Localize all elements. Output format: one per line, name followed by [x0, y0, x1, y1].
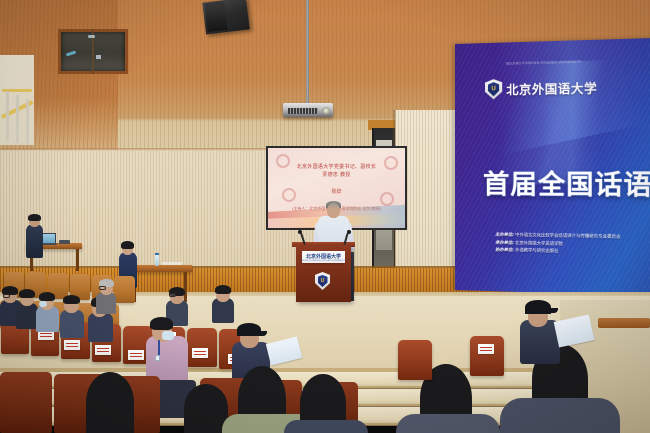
banner-university-logo: U 北京外国语大学 [485, 77, 597, 100]
crest-letter: U [488, 82, 499, 96]
operator-rear-body [26, 224, 43, 258]
speaker-head [327, 203, 340, 218]
microphone-head [347, 230, 351, 234]
projector-vent [288, 108, 318, 114]
table-leg [184, 272, 187, 302]
attendee-cap-brim [255, 331, 267, 336]
attendee-cap-brim [545, 308, 558, 313]
banner-institution-name-cn: 北京外国语大学 [506, 79, 597, 98]
audience-seat[interactable] [398, 340, 432, 380]
rail-post [6, 91, 9, 141]
seat-name-card [95, 345, 111, 355]
banner-event-title: 首届全国话语译 [483, 164, 650, 203]
seat-name-card [478, 344, 494, 354]
organizer-name: 中外语言文化比较学会话语译介与传播研究专业委员会 [515, 232, 620, 239]
attendee-face-mask [39, 301, 47, 307]
attendee-body [88, 313, 113, 342]
led-backdrop-banner: U 北京外国语大学 BEIJING FOREIGN STUDIES UNIVER… [455, 38, 650, 296]
audience-seat[interactable] [470, 336, 504, 376]
organizer-name: 北京外国语大学英语学院 [515, 240, 563, 246]
bottle-cap [155, 253, 159, 255]
attendee-glasses [99, 286, 106, 290]
organizer-role: 协办单位: [495, 247, 514, 252]
attendee-body [60, 310, 84, 338]
attendee-hair [39, 292, 55, 301]
equipment-box [59, 240, 70, 244]
podium-sign-cn: 北京外国语大学 [306, 253, 341, 260]
attendee-lanyard [158, 340, 160, 356]
attendee-hair [215, 285, 231, 294]
seat-name-card [192, 348, 208, 358]
seat-name-card [128, 350, 144, 360]
left-stairwell [0, 55, 34, 145]
front-attendee-shoulders [500, 398, 620, 433]
water-bottle[interactable] [155, 255, 159, 266]
attendee-glasses [169, 293, 176, 297]
projector-lens [322, 107, 330, 114]
attendee-body [16, 303, 38, 329]
rail-post [26, 99, 29, 145]
front-attendee-shoulders [284, 420, 368, 433]
operator-rear-hair [28, 214, 41, 221]
attendee-body [96, 292, 116, 314]
podium-name-plate: 北京外国语大学 BEIJING FOREIGN STUDIES UNIVERSI… [302, 251, 345, 263]
empty-seat[interactable] [114, 276, 135, 303]
banner-organizer-list: 主办单位: 中外语言文化比较学会话语译介与传播研究专业委员会 承办单位: 北京外… [495, 231, 620, 256]
attendee-hair [19, 289, 35, 298]
rail-post [16, 95, 19, 143]
front-attendee-shoulders [396, 414, 500, 433]
university-crest-icon: U [485, 79, 502, 100]
attendee-face-mask [162, 331, 174, 340]
booth-light-reflection [96, 55, 101, 59]
organizer-row: 协办单位: 外语教学与研究出版社 [495, 246, 620, 256]
attendee-glasses [3, 294, 10, 298]
auditorium-scene: 北京外国语大学党委书记、副校长 贾德忠 教授 致辞 (主持人：北京外国语大学英语… [0, 0, 650, 433]
podium-crest-letter: U [318, 275, 328, 287]
podium-sign-en: BEIJING FOREIGN STUDIES UNIVERSITY [300, 260, 346, 262]
front-attendee-head [86, 372, 134, 433]
screen-subtitle: 致辞 [268, 188, 405, 195]
front-row-seat[interactable] [0, 372, 52, 433]
organizer-name: 外语教学与研究出版社 [515, 247, 558, 253]
seat-name-card [64, 340, 80, 350]
booth-light-reflection [88, 35, 95, 38]
screen-title-line2: 贾德忠 教授 [268, 172, 405, 179]
ceiling-speaker-grille [204, 1, 227, 32]
microphone-head [298, 230, 302, 234]
organizer-role: 承办单位: [495, 239, 514, 244]
attendee-badge [155, 355, 160, 361]
screen-title-line1: 北京外国语大学党委书记、副校长 [268, 164, 405, 171]
aisle-handrail [598, 318, 650, 328]
operator-front-hair [121, 241, 134, 249]
attendee-lavender-hair [150, 317, 173, 330]
organizer-role: 主办单位: [495, 232, 514, 237]
attendee-hair [63, 295, 80, 304]
table-leg [76, 249, 79, 271]
projector-mount-pole [306, 0, 309, 104]
documents-on-table [162, 262, 182, 265]
